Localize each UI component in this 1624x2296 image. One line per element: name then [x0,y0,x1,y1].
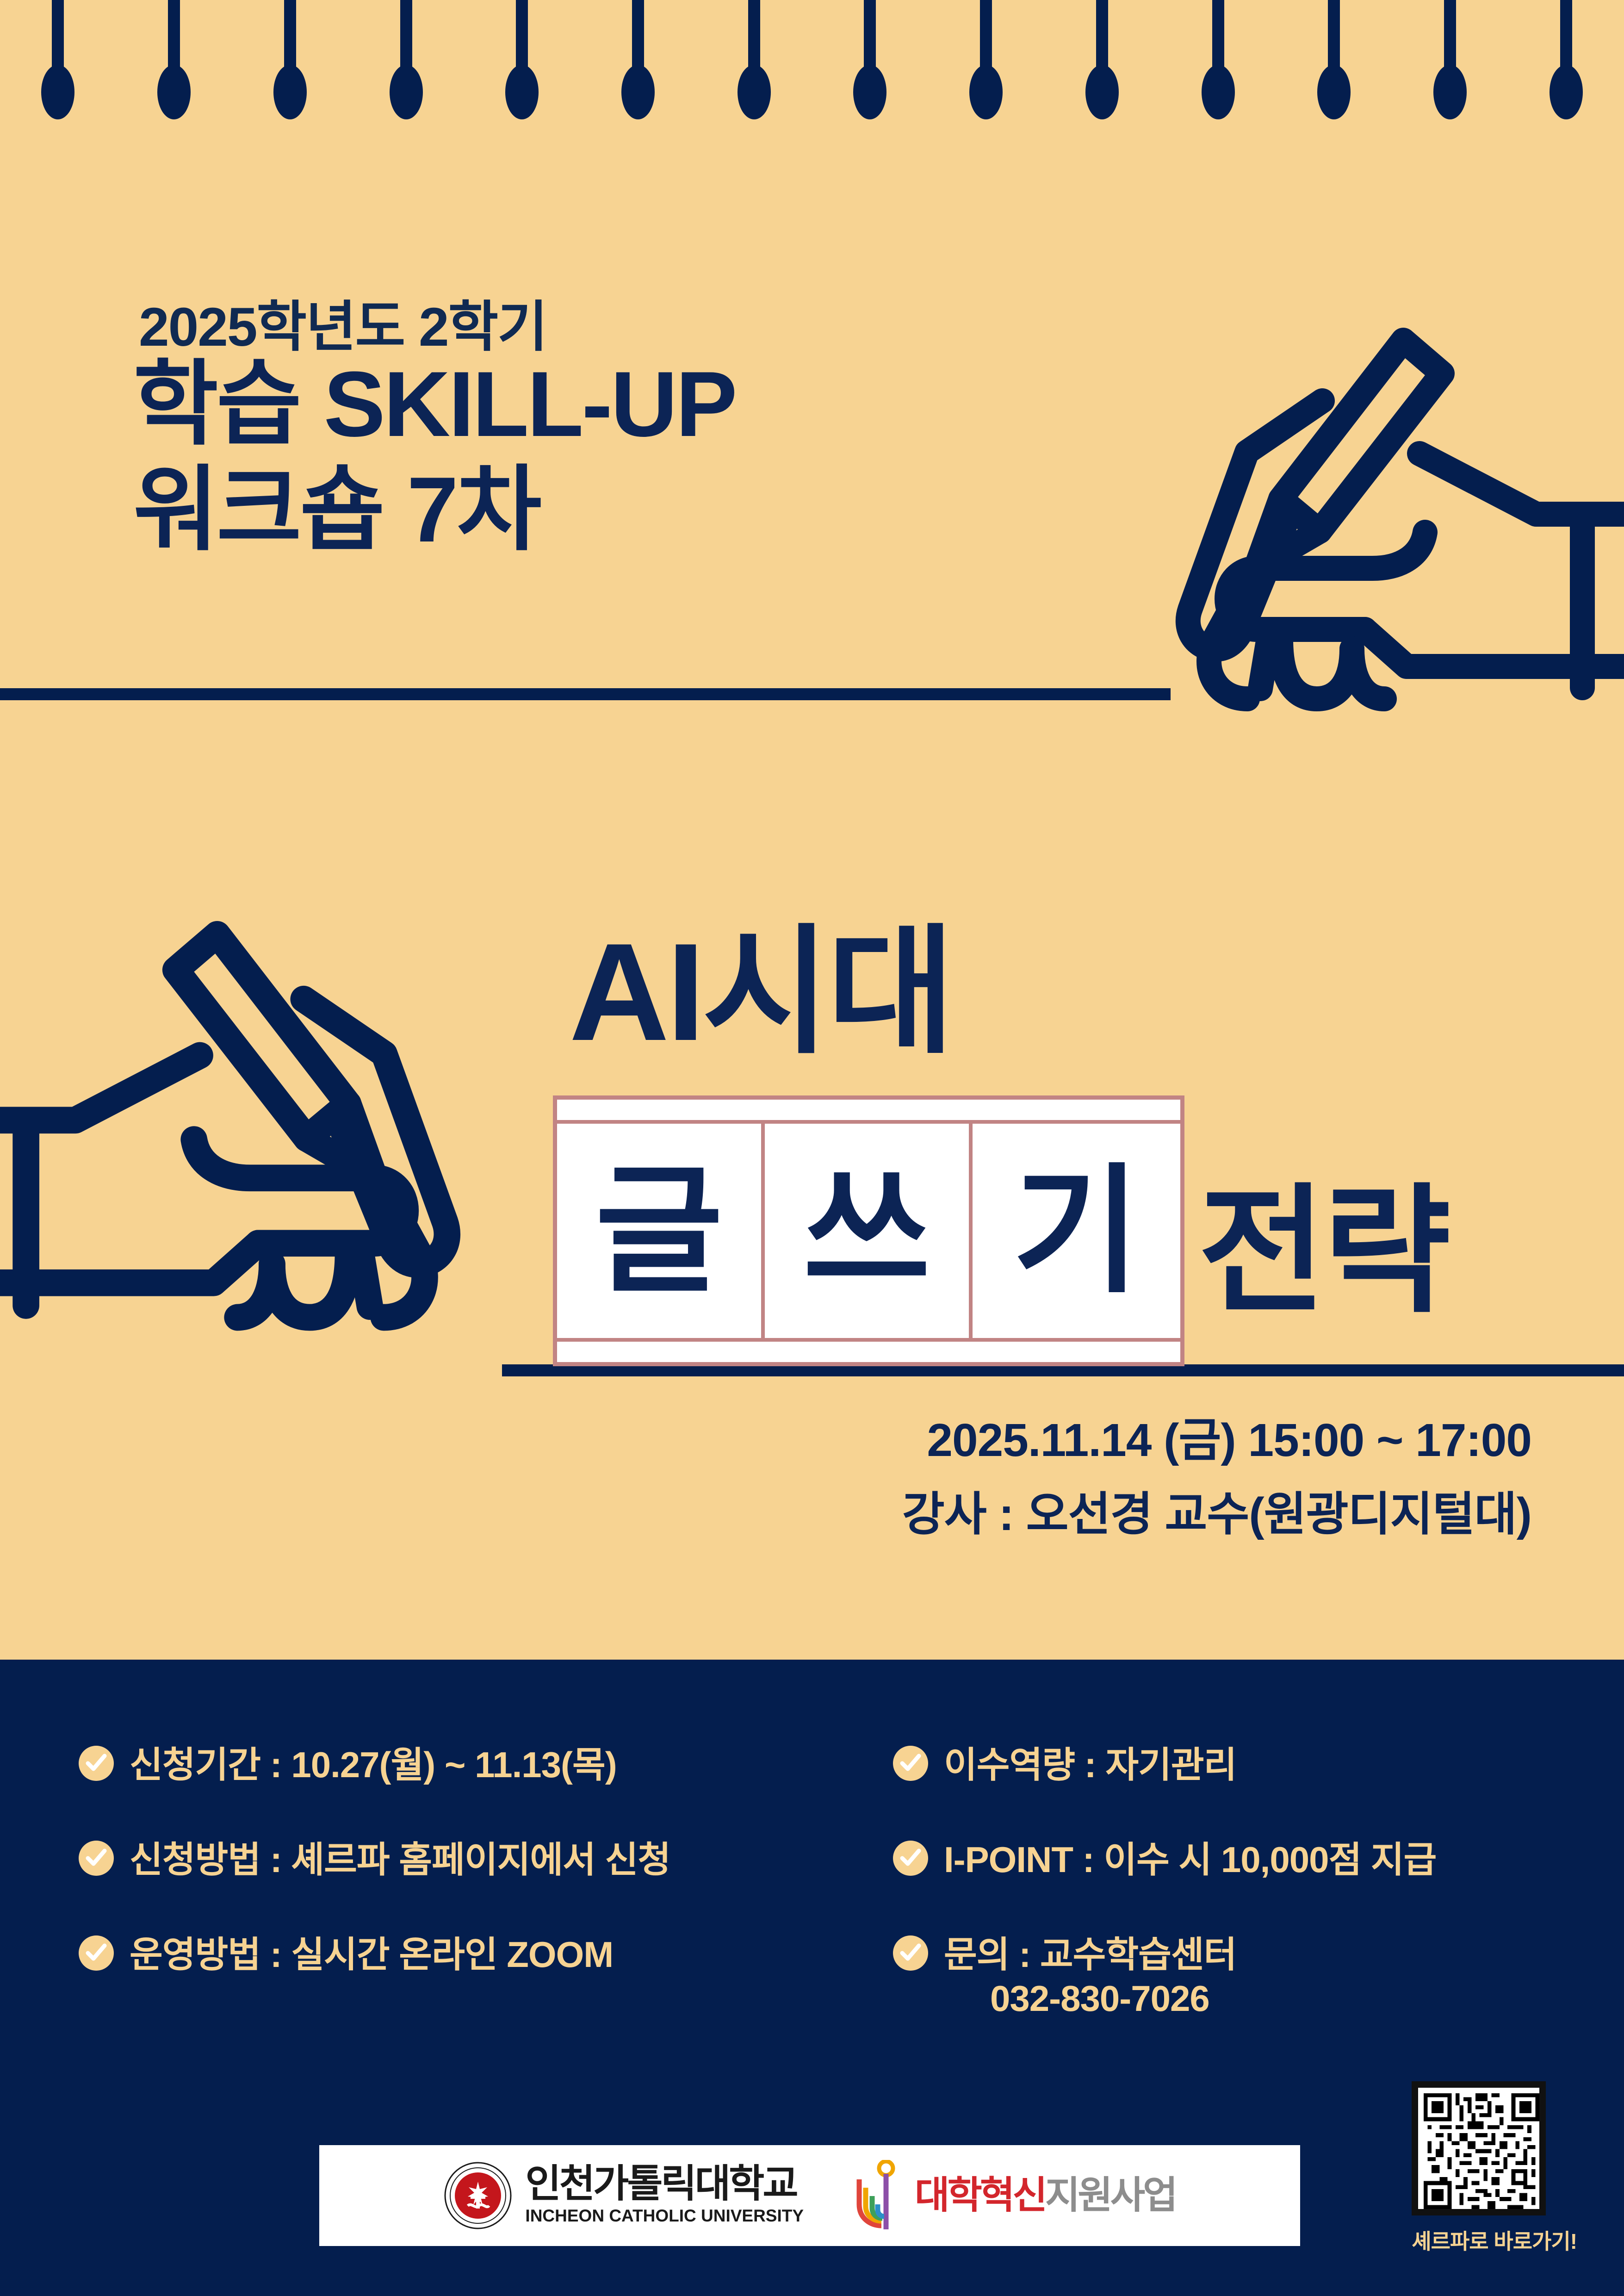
uis-wordmark-red: 대학혁신 [915,2174,1045,2216]
headline-prefix: AI시대 [569,879,952,1080]
header-divider-rule [0,688,1171,700]
info-item-sub: 032-830-7026 [944,1977,1236,2021]
poster: 2025학년도 2학기 학습 SKILL-UP 워크숍 7차 [0,0,1624,2296]
manuscript-top-strip [557,1100,1180,1124]
manuscript-cells: 글 쓰 기 [557,1124,1180,1338]
info-grid: 신청기간 : 10.27(월) ~ 11.13(목)이수역량 : 자기관리신청방… [79,1743,1541,2021]
check-icon [893,1841,928,1876]
manuscript-grid-box: 글 쓰 기 [553,1095,1184,1366]
manuscript-cell-2: 쓰 [765,1124,973,1338]
info-item: 운영방법 : 실시간 온라인 ZOOM [79,1933,893,2021]
manuscript-cell-1: 글 [557,1124,765,1338]
logo-university-innovation-support: 대학혁신지원사업 [850,2160,1176,2232]
uis-wordmark: 대학혁신지원사업 [915,2177,1176,2215]
info-item-text: 이수역량 : 자기관리 [944,1743,1236,1787]
check-icon [893,1746,928,1781]
event-lecturer: 강사 : 오선경 교수(원광디지털대) [902,1476,1531,1543]
info-item: 문의 : 교수학습센터032-830-7026 [893,1933,1541,2021]
hand-writing-pencil-icon-left [0,870,490,1381]
info-item: 신청기간 : 10.27(월) ~ 11.13(목) [79,1743,893,1787]
event-datetime: 2025.11.14 (금) 15:00 ~ 17:00 [927,1402,1531,1469]
info-item: 이수역량 : 자기관리 [893,1743,1541,1787]
page-title-line-2: 워크숍 7차 [133,457,736,563]
headline-suffix: 전략 [1198,1139,1448,1339]
info-item-text: 신청방법 : 셰르파 홈페이지에서 신청 [130,1838,670,1882]
qr-caption: 셰르파로 바로가기! [1412,2225,1577,2255]
hand-writing-pencil-icon-right [1147,315,1624,724]
page-title: 학습 SKILL-UP 워크숍 7차 [133,352,736,563]
info-item-text: I-POINT : 이수 시 10,000점 지급 [944,1838,1436,1882]
logo-bar: 인천가톨릭대학교 INCHEON CATHOLIC UNIVERSITY [319,2145,1300,2246]
check-icon [79,1746,114,1781]
info-panel: 신청기간 : 10.27(월) ~ 11.13(목)이수역량 : 자기관리신청방… [0,1660,1624,2296]
manuscript-cell-3: 기 [973,1124,1180,1338]
qr-code[interactable] [1412,2081,1546,2215]
spiral-binding [0,0,1624,116]
check-icon [79,1935,114,1971]
info-item: 신청방법 : 셰르파 홈페이지에서 신청 [79,1838,893,1882]
info-item: I-POINT : 이수 시 10,000점 지급 [893,1838,1541,1882]
uis-wordmark-gray: 지원사업 [1045,2174,1176,2216]
info-item-text: 신청기간 : 10.27(월) ~ 11.13(목) [130,1743,617,1787]
page-title-line-1: 학습 SKILL-UP [133,352,736,457]
uis-u-mark-icon [850,2160,905,2232]
university-name-en: INCHEON CATHOLIC UNIVERSITY [525,2205,804,2227]
check-icon [79,1841,114,1876]
check-icon [893,1935,928,1971]
info-item-text: 운영방법 : 실시간 온라인 ZOOM [130,1933,613,1977]
info-item-text: 문의 : 교수학습센터032-830-7026 [944,1933,1236,2021]
university-name: 인천가톨릭대학교 INCHEON CATHOLIC UNIVERSITY [525,2164,804,2227]
qr-section[interactable]: 셰르파로 바로가기! [1412,2081,1577,2255]
university-seal-icon [444,2161,512,2230]
logo-incheon-catholic-university: 인천가톨릭대학교 INCHEON CATHOLIC UNIVERSITY [444,2161,804,2230]
manuscript-bottom-strip [557,1338,1180,1362]
university-name-kr: 인천가톨릭대학교 [525,2164,804,2203]
kicker-text: 2025학년도 2학기 [139,282,547,361]
